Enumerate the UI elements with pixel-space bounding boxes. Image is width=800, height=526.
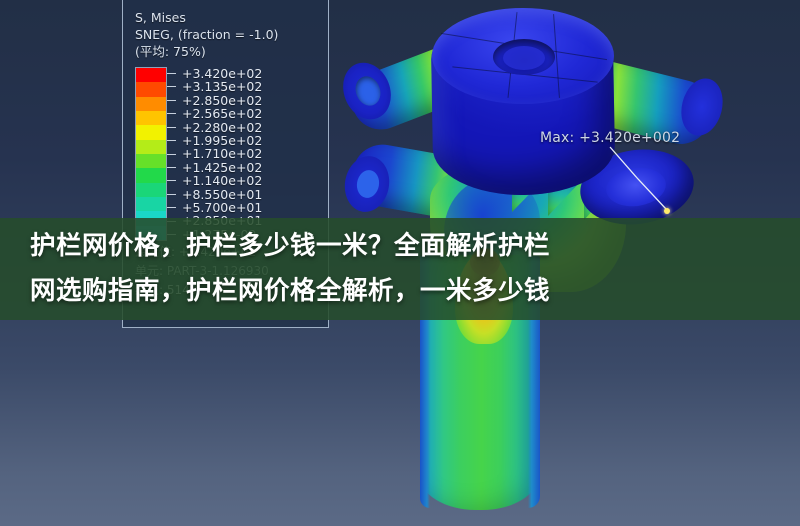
color-scale-label-7: +1.425e+02 xyxy=(182,161,262,174)
legend-average: (平均: 75%) xyxy=(135,43,318,60)
color-scale-tick-2 xyxy=(167,100,176,101)
color-scale-tick-8 xyxy=(167,180,176,181)
color-scale: +3.420e+02+3.135e+02+2.850e+02+2.565e+02… xyxy=(135,67,318,241)
color-scale-labels: +3.420e+02+3.135e+02+2.850e+02+2.565e+02… xyxy=(182,67,262,241)
color-scale-label-5: +1.995e+02 xyxy=(182,134,262,147)
color-scale-tick-4 xyxy=(167,127,176,128)
color-scale-ticks xyxy=(167,67,180,241)
color-swatch-2 xyxy=(136,97,166,111)
color-scale-label-0: +3.420e+02 xyxy=(182,67,262,80)
max-location-marker xyxy=(664,208,670,214)
model-hub-bore-inner xyxy=(503,46,545,70)
legend-subtitle: SNEG, (fraction = -1.0) xyxy=(135,26,318,43)
color-swatch-6 xyxy=(136,154,166,168)
color-scale-label-6: +1.710e+02 xyxy=(182,147,262,160)
color-scale-label-9: +8.550e+01 xyxy=(182,188,262,201)
color-scale-tick-1 xyxy=(167,86,176,87)
color-swatch-0 xyxy=(136,68,166,82)
color-scale-tick-0 xyxy=(167,73,176,74)
color-scale-tick-5 xyxy=(167,140,176,141)
color-scale-tick-10 xyxy=(167,207,176,208)
max-value-annotation: Max: +3.420e+002 xyxy=(540,130,680,146)
color-swatch-4 xyxy=(136,125,166,139)
color-scale-label-4: +2.280e+02 xyxy=(182,121,262,134)
color-swatch-column xyxy=(135,67,167,241)
color-swatch-3 xyxy=(136,111,166,125)
color-swatch-7 xyxy=(136,168,166,182)
screenshot-root: Max: +3.420e+002 S, Mises SNEG, (fractio… xyxy=(0,0,800,526)
banner-line-1: 护栏网价格，护栏多少钱一米？全面解析护栏 xyxy=(30,224,770,269)
color-scale-tick-7 xyxy=(167,167,176,168)
color-swatch-8 xyxy=(136,183,166,197)
color-scale-tick-3 xyxy=(167,113,176,114)
color-scale-label-8: +1.140e+02 xyxy=(182,174,262,187)
color-scale-tick-9 xyxy=(167,194,176,195)
color-swatch-5 xyxy=(136,140,166,154)
color-scale-label-1: +3.135e+02 xyxy=(182,80,262,93)
color-swatch-9 xyxy=(136,197,166,211)
color-scale-label-3: +2.565e+02 xyxy=(182,107,262,120)
legend-title: S, Mises xyxy=(135,9,318,26)
color-scale-tick-6 xyxy=(167,154,176,155)
color-scale-label-2: +2.850e+02 xyxy=(182,94,262,107)
color-swatch-1 xyxy=(136,82,166,96)
color-scale-label-10: +5.700e+01 xyxy=(182,201,262,214)
title-overlay-banner: 护栏网价格，护栏多少钱一米？全面解析护栏 网选购指南，护栏网价格全解析，一米多少… xyxy=(0,218,800,320)
banner-line-2: 网选购指南，护栏网价格全解析，一米多少钱 xyxy=(30,269,770,314)
